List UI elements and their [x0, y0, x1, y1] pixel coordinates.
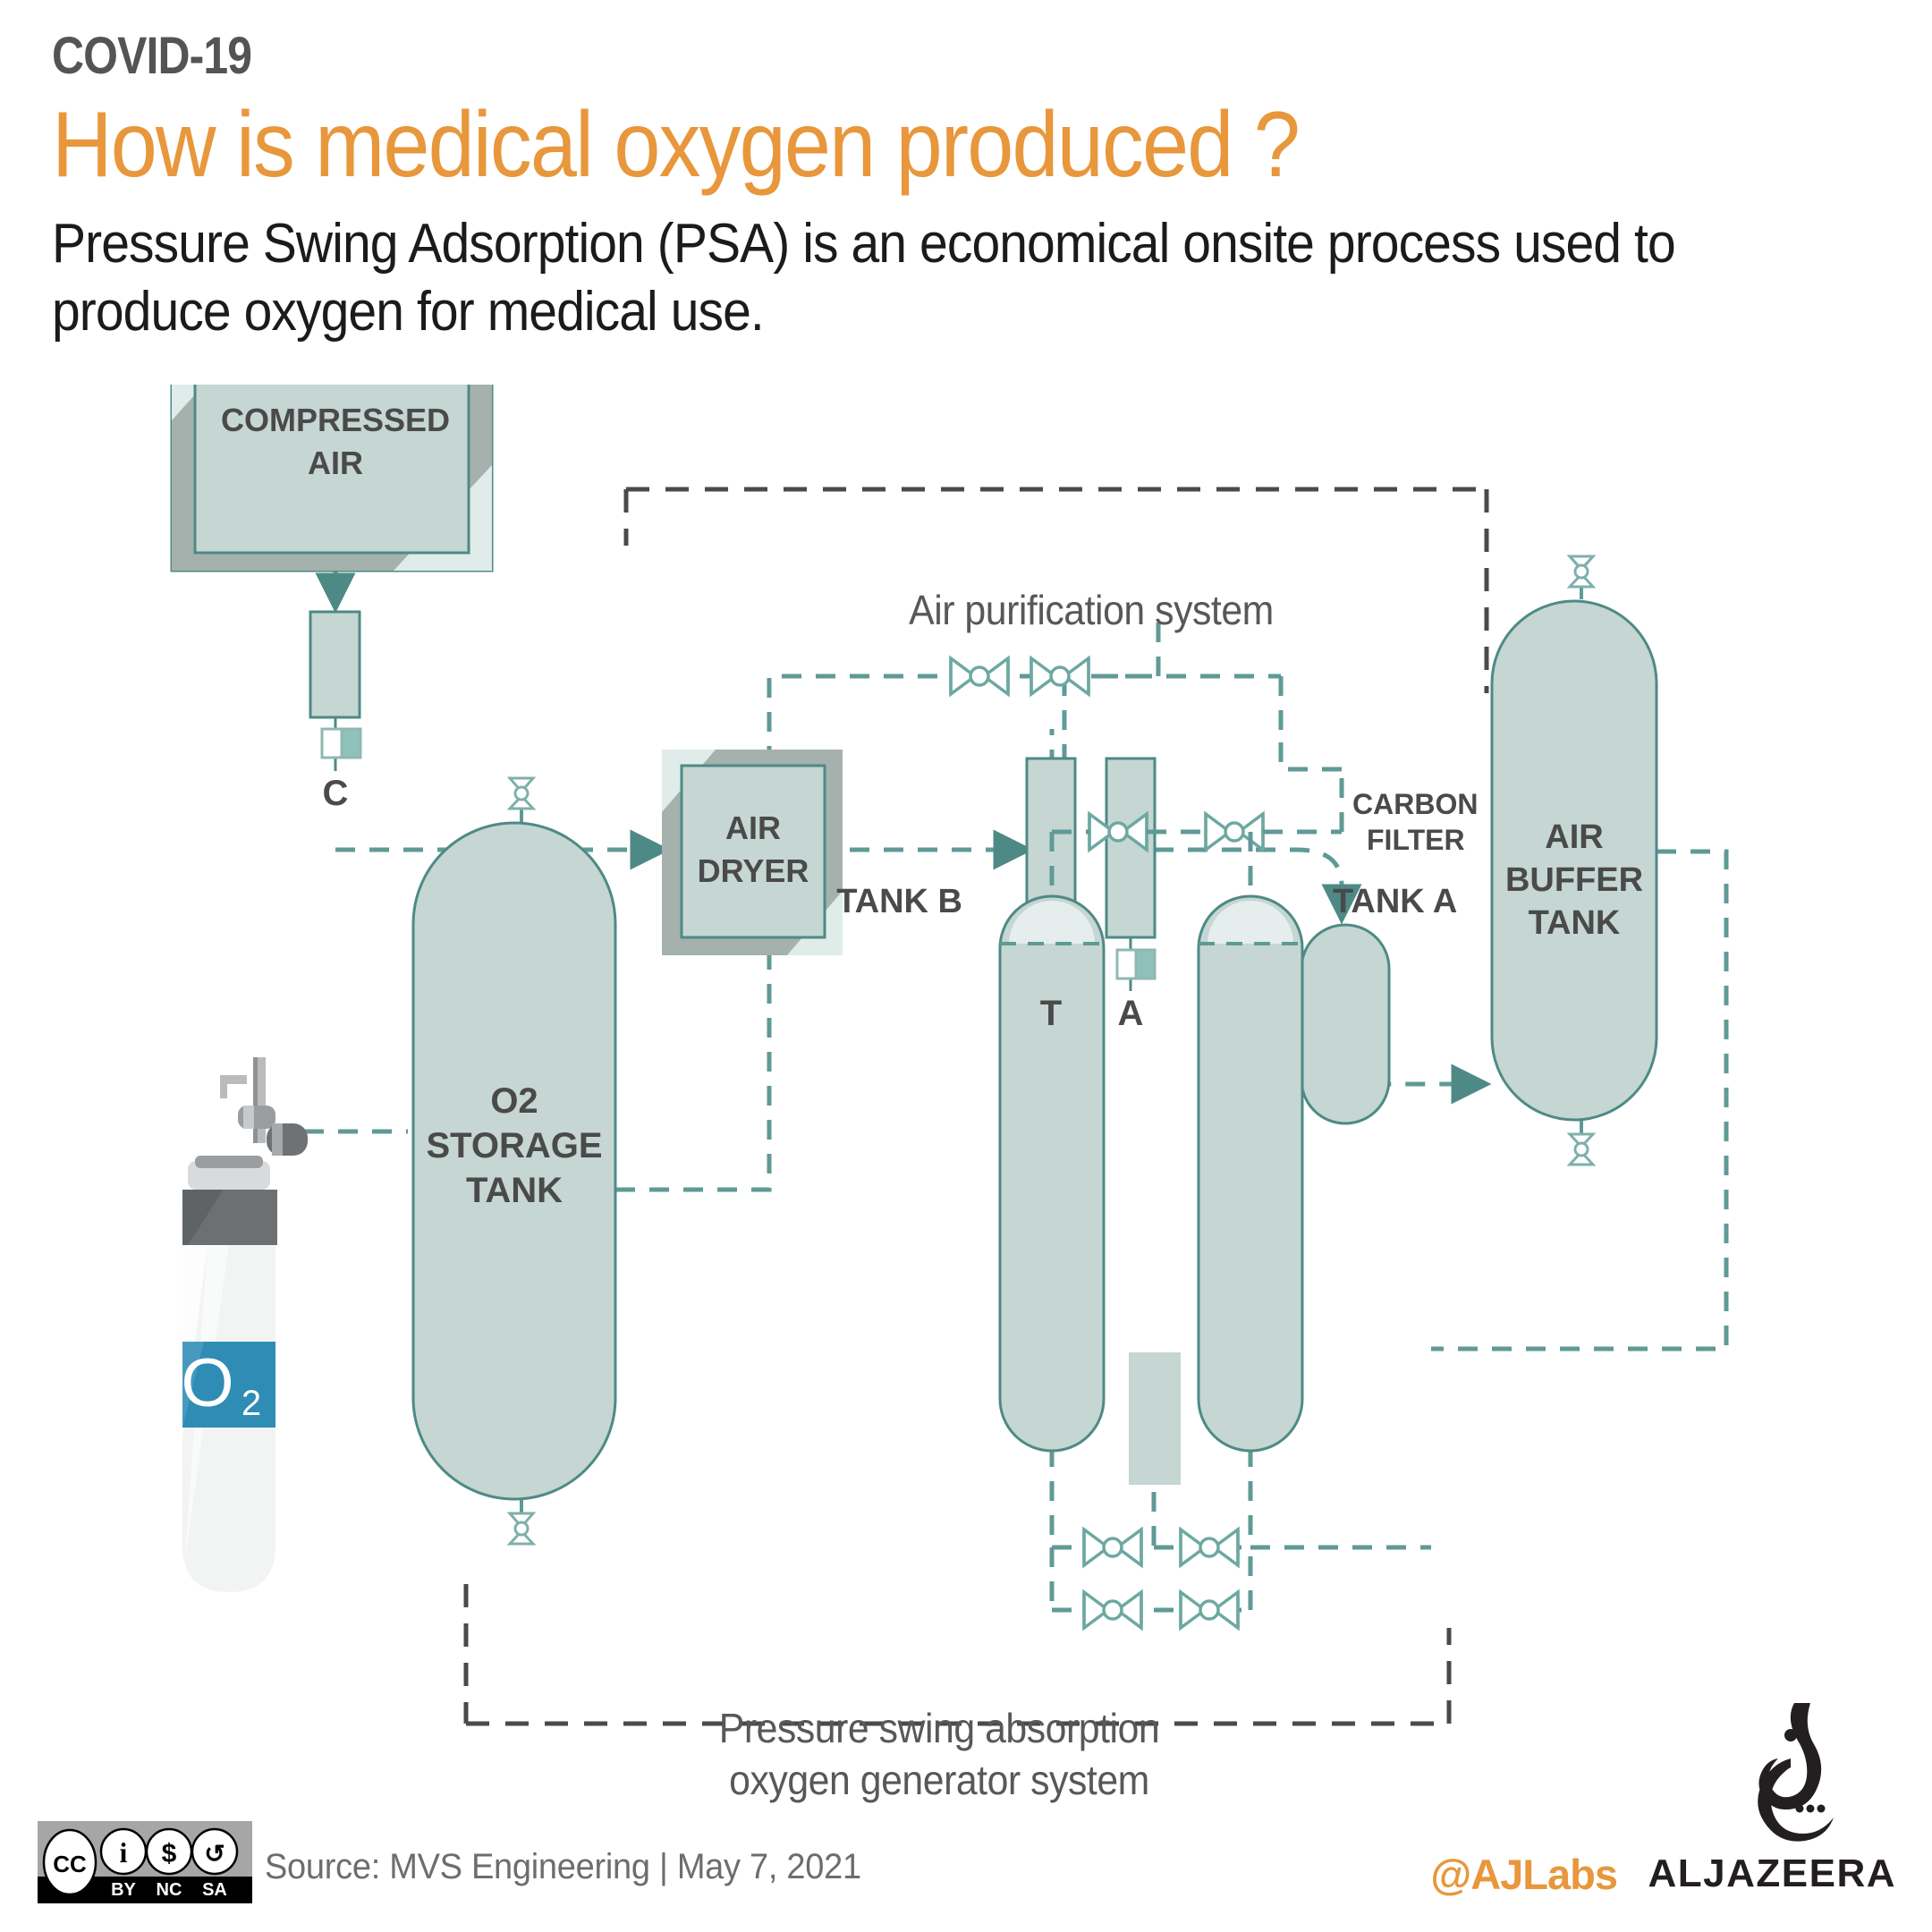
tank-b-label: TANK B	[836, 883, 962, 920]
tank-a-label: TANK A	[1333, 883, 1457, 920]
valve-top-left	[951, 658, 1008, 694]
svg-text:$: $	[162, 1839, 177, 1868]
air-buffer-label-l1: AIR	[1545, 818, 1603, 856]
valve-b2-right	[1181, 1592, 1238, 1628]
tank-a	[1199, 896, 1302, 1451]
valve-o2-storage-top	[510, 778, 533, 809]
valve-top-right	[1031, 658, 1089, 694]
cc-term-sa: SA	[202, 1880, 227, 1900]
carbon-filter-label-l1: CARBON	[1352, 788, 1478, 820]
cylinder-o2-subscript: 2	[241, 1384, 261, 1423]
air-dryer-label-l2: DRYER	[698, 852, 809, 889]
air-buffer-label-l3: TANK	[1529, 904, 1621, 942]
valve-a-label: A	[1118, 994, 1144, 1033]
cc-term-nc: NC	[157, 1880, 182, 1900]
source-credit: Source: MVS Engineering | May 7, 2021	[265, 1847, 861, 1887]
o2-storage-label-l1: O2	[490, 1081, 538, 1121]
oxygen-cylinder: O 2	[181, 1057, 308, 1592]
air-dryer-label-l1: AIR	[725, 809, 781, 846]
valve-o2-storage-bottom	[510, 1513, 533, 1544]
ajlabs-handle: @AJLabs	[1430, 1850, 1617, 1899]
psa-caption-line2: oxygen generator system	[581, 1756, 1297, 1804]
center-column	[1129, 1352, 1181, 1485]
psa-caption-line1: Pressure swing absorption	[581, 1704, 1297, 1752]
compressed-air-label-l2: AIR	[308, 445, 363, 481]
psa-system-region	[466, 1584, 1449, 1724]
carbon-filter	[1301, 925, 1389, 1123]
creative-commons-badge: CC i $ ↺ BY NC SA	[38, 1821, 252, 1903]
tank-b	[1000, 896, 1104, 1451]
cylinder-o2-symbol: O	[181, 1345, 233, 1421]
page-subtitle: Pressure Swing Adsorption (PSA) is an ec…	[52, 210, 1698, 345]
valve-air-buffer-bottom	[1570, 1134, 1593, 1165]
page-kicker: COVID-19	[52, 30, 1590, 82]
aljazeera-logo-icon	[1724, 1699, 1877, 1860]
svg-text:i: i	[120, 1836, 128, 1868]
cc-label: CC	[53, 1851, 87, 1877]
carbon-filter-label-l2: FILTER	[1367, 824, 1465, 856]
air-buffer-label-l2: BUFFER	[1505, 861, 1643, 899]
valve-c-label: C	[323, 774, 349, 813]
valve-b1-left	[1084, 1529, 1141, 1565]
valve-t-label: T	[1040, 994, 1062, 1033]
aljazeera-wordmark: ALJAZEERA	[1648, 1851, 1896, 1896]
valve-air-buffer-top	[1570, 556, 1593, 587]
page-title: How is medical oxygen produced ?	[52, 97, 1662, 194]
compressor-column	[310, 612, 360, 771]
valve-b1-right	[1181, 1529, 1238, 1565]
o2-storage-label-l2: STORAGE	[426, 1126, 602, 1165]
tower-a	[1106, 758, 1155, 991]
valve-b2-left	[1084, 1592, 1141, 1628]
air-purification-caption: Air purification system	[809, 586, 1374, 634]
cc-term-by: BY	[111, 1880, 136, 1900]
compressed-air-label-l1: COMPRESSED	[221, 402, 450, 438]
svg-text:↺: ↺	[204, 1840, 225, 1868]
header: COVID-19 How is medical oxygen produced …	[52, 30, 1841, 345]
o2-storage-label-l3: TANK	[466, 1171, 563, 1210]
air-buffer-tank	[1492, 556, 1657, 1165]
valve-mid-right	[1206, 814, 1263, 850]
